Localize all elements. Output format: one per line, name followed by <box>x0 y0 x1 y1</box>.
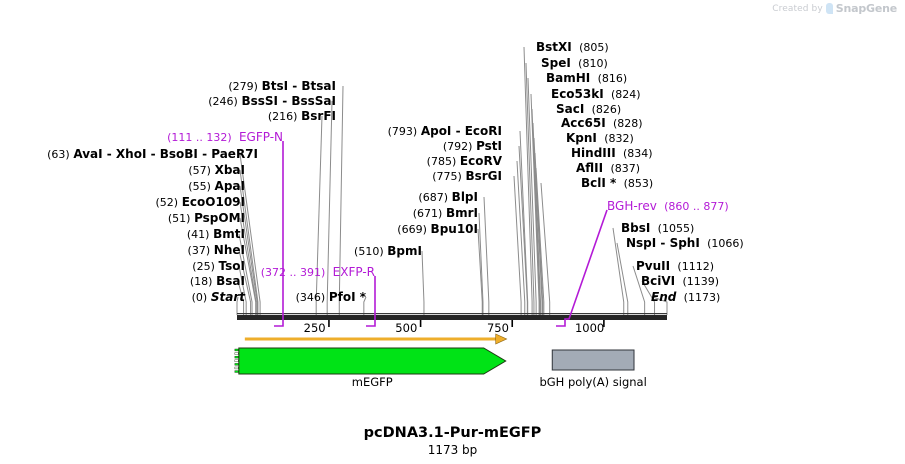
enzyme-position: (1139) <box>682 275 719 288</box>
enzyme-name: SacI <box>556 102 584 116</box>
enzyme-label-bmti[interactable]: (41) BmtI <box>187 228 245 241</box>
enzyme-label-pvuii[interactable]: PvuII (1112) <box>636 260 714 273</box>
enzyme-position: (1055) <box>658 222 695 235</box>
enzyme-name: NspI - SphI <box>626 236 700 250</box>
enzyme-label-bamhi[interactable]: BamHI (816) <box>546 72 627 85</box>
enzyme-position: (687) <box>418 191 448 204</box>
enzyme-position: (834) <box>623 147 653 160</box>
ruler-tick-label-750: 750 <box>487 321 509 335</box>
enzyme-label-eco53ki[interactable]: Eco53kI (824) <box>551 88 641 101</box>
enzyme-position: (57) <box>188 164 211 177</box>
enzyme-name: KpnI <box>566 131 597 145</box>
enzyme-leader-line <box>327 101 332 315</box>
enzyme-name: PvuII <box>636 259 670 273</box>
enzyme-position: (279) <box>228 80 258 93</box>
enzyme-name: SpeI <box>541 56 571 70</box>
enzyme-label-saci[interactable]: SacI (826) <box>556 103 621 116</box>
feature-edge-hatch <box>235 353 238 355</box>
enzyme-label-bcli[interactable]: BclI * (853) <box>581 177 653 190</box>
enzyme-label-ecoo109i[interactable]: (52) EcoO109I <box>155 196 245 209</box>
primer-label-egfp-n[interactable]: (111 .. 132) EGFP-N <box>167 131 283 144</box>
enzyme-name: XbaI <box>215 163 245 177</box>
ruler-tick-label-1000: 1000 <box>575 321 604 335</box>
enzyme-position: (816) <box>598 72 628 85</box>
enzyme-name: BlpI <box>452 190 478 204</box>
primer-name: EGFP-N <box>239 130 283 144</box>
enzyme-name: BsrGI <box>465 169 502 183</box>
enzyme-name: BssSI - BssSaI <box>241 94 336 108</box>
enzyme-label-bsrfi[interactable]: (216) BsrFI <box>268 110 336 123</box>
enzyme-name: End <box>651 290 676 304</box>
enzyme-label-psti[interactable]: (792) PstI <box>443 140 502 153</box>
enzyme-position: (63) <box>47 148 70 161</box>
enzyme-name: PfoI * <box>329 290 366 304</box>
enzyme-leader-line <box>316 116 322 315</box>
enzyme-name: Acc65I <box>561 116 606 130</box>
enzyme-name: ApaI <box>215 179 245 193</box>
enzyme-label-apai[interactable]: (55) ApaI <box>188 180 245 193</box>
enzyme-leader-line <box>514 176 521 315</box>
enzyme-name: BciVI <box>641 274 675 288</box>
enzyme-label-nhei[interactable]: (37) NheI <box>188 244 245 257</box>
enzyme-position: (1066) <box>707 237 744 250</box>
enzyme-leader-line <box>617 243 628 315</box>
enzyme-position: (775) <box>432 170 462 183</box>
enzyme-position: (828) <box>613 117 643 130</box>
enzyme-label-bsssi[interactable]: (246) BssSI - BssSaI <box>208 95 336 108</box>
enzyme-position: (51) <box>168 212 191 225</box>
enzyme-position: (0) <box>192 291 208 304</box>
enzyme-label-aflii[interactable]: AflII (837) <box>576 162 640 175</box>
enzyme-name: BbsI <box>621 221 650 235</box>
enzyme-label-bbsi[interactable]: BbsI (1055) <box>621 222 694 235</box>
enzyme-position: (216) <box>268 110 298 123</box>
ruler-bar <box>237 315 667 320</box>
enzyme-name: ApoI - EcoRI <box>421 124 502 138</box>
enzyme-name: NheI <box>214 243 245 257</box>
primer-range: (111 .. 132) <box>167 131 232 144</box>
enzyme-position: (832) <box>604 132 634 145</box>
enzyme-position: (55) <box>188 180 211 193</box>
enzyme-position: (792) <box>443 140 473 153</box>
enzyme-leader-line <box>339 86 343 315</box>
enzyme-label-pspomi[interactable]: (51) PspOMI <box>168 212 245 225</box>
enzyme-label-nspi[interactable]: NspI - SphI (1066) <box>626 237 744 250</box>
enzyme-position: (37) <box>188 244 211 257</box>
enzyme-label-bsrgi[interactable]: (775) BsrGI <box>432 170 502 183</box>
enzyme-position: (25) <box>192 260 215 273</box>
primer-bracket-bgh-rev <box>556 210 607 326</box>
feature-label-bgh-poly-a-signal: bGH poly(A) signal <box>539 375 646 389</box>
enzyme-label-xbai[interactable]: (57) XbaI <box>188 164 245 177</box>
enzyme-name: BmrI <box>446 206 478 220</box>
enzyme-position: (805) <box>579 41 609 54</box>
feature-edge-hatch <box>235 349 238 351</box>
feature-edge-hatch <box>235 360 238 362</box>
enzyme-name: Bpu10I <box>431 222 478 236</box>
primer-name: BGH-rev <box>607 199 657 213</box>
enzyme-label-hindiii[interactable]: HindIII (834) <box>571 147 653 160</box>
primer-label-exfp-r[interactable]: (372 .. 391) EXFP-R <box>261 266 375 279</box>
enzyme-name: AvaI - XhoI - BsoBI - PaeR7I <box>73 147 258 161</box>
enzyme-position: (793) <box>388 125 418 138</box>
primer-range: (372 .. 391) <box>261 266 326 279</box>
enzyme-name: BtsI - BtsaI <box>262 79 336 93</box>
feature-label-megfp: mEGFP <box>352 375 393 389</box>
enzyme-name: TsoI <box>219 259 245 273</box>
enzyme-position: (1112) <box>677 260 714 273</box>
enzyme-leader-line <box>484 197 489 315</box>
feature-edge-hatch <box>235 371 238 373</box>
enzyme-label-bcivi[interactable]: BciVI (1139) <box>641 275 719 288</box>
enzyme-position: (853) <box>624 177 654 190</box>
sequence-line <box>237 313 667 314</box>
enzyme-label-bstxi[interactable]: BstXI (805) <box>536 41 609 54</box>
enzyme-label-bmri[interactable]: (671) BmrI <box>413 207 478 220</box>
enzyme-label-tsoi[interactable]: (25) TsoI <box>192 260 245 273</box>
enzyme-position: (824) <box>611 88 641 101</box>
enzyme-label-blpi[interactable]: (687) BlpI <box>418 191 478 204</box>
enzyme-position: (669) <box>397 223 427 236</box>
enzyme-position: (510) <box>354 245 384 258</box>
enzyme-name: BamHI <box>546 71 590 85</box>
enzyme-name: BstXI <box>536 40 572 54</box>
enzyme-label-kpni[interactable]: KpnI (832) <box>566 132 634 145</box>
enzyme-position: (346) <box>296 291 326 304</box>
enzyme-position: (837) <box>610 162 640 175</box>
enzyme-name: BpmI <box>387 244 422 258</box>
ruler-tick-mark <box>420 320 422 327</box>
feature-edge-hatch <box>235 356 238 358</box>
enzyme-name: BmtI <box>213 227 245 241</box>
enzyme-position: (18) <box>190 275 213 288</box>
enzyme-label-bpu10i[interactable]: (669) Bpu10I <box>397 223 478 236</box>
enzyme-name: BclI * <box>581 176 616 190</box>
enzyme-label-btsi[interactable]: (279) BtsI - BtsaI <box>228 80 336 93</box>
enzyme-label-ecorv[interactable]: (785) EcoRV <box>427 155 502 168</box>
enzyme-leader-line <box>422 251 424 315</box>
feature-box-polya[interactable] <box>552 350 634 370</box>
enzyme-position: (41) <box>187 228 210 241</box>
enzyme-label-acc65i[interactable]: Acc65I (828) <box>561 117 643 130</box>
enzyme-name: EcoRV <box>460 154 502 168</box>
enzyme-name: HindIII <box>571 146 616 160</box>
enzyme-name: PstI <box>476 139 502 153</box>
ruler-tick-mark <box>511 320 513 327</box>
primer-label-bgh-rev[interactable]: BGH-rev (860 .. 877) <box>607 200 729 213</box>
sequence-length-label: 1173 bp <box>0 443 905 457</box>
enzyme-position: (246) <box>208 95 238 108</box>
enzyme-position: (826) <box>592 103 622 116</box>
enzyme-label-spei[interactable]: SpeI (810) <box>541 57 608 70</box>
enzyme-label-pfoi[interactable]: (346) PfoI * <box>296 291 366 304</box>
enzyme-name: BsrFI <box>301 109 336 123</box>
ruler-tick-label-500: 500 <box>395 321 417 335</box>
enzyme-name: Start <box>211 290 245 304</box>
enzyme-label-avai[interactable]: (63) AvaI - XhoI - BsoBI - PaeR7I <box>47 148 258 161</box>
primer-name: EXFP-R <box>333 265 375 279</box>
enzyme-label-bpmi[interactable]: (510) BpmI <box>354 245 422 258</box>
plasmid-map-canvas: Created by SnapGene (63) AvaI - XhoI - B… <box>0 0 905 464</box>
enzyme-label-start[interactable]: (0) Start <box>192 291 245 304</box>
enzyme-name: PspOMI <box>194 211 245 225</box>
feature-edge-hatch <box>235 367 238 369</box>
primer-range: (860 .. 877) <box>664 200 729 213</box>
enzyme-label-bsai[interactable]: (18) BsaI <box>190 275 245 288</box>
enzyme-position: (810) <box>578 57 608 70</box>
page-title: pcDNA3.1-Pur-mEGFP <box>0 425 905 441</box>
ruler-tick-label-250: 250 <box>304 321 326 335</box>
enzyme-leader-line <box>526 63 534 315</box>
enzyme-label-end[interactable]: End (1173) <box>651 291 720 304</box>
feature-arrow-megfp[interactable] <box>239 348 506 374</box>
enzyme-name: AflII <box>576 161 603 175</box>
primer-bracket-egfp-n <box>274 141 283 326</box>
enzyme-position: (1173) <box>684 291 721 304</box>
enzyme-position: (52) <box>155 196 178 209</box>
enzyme-name: BsaI <box>216 274 245 288</box>
ruler-tick-mark <box>328 320 330 327</box>
enzyme-name: EcoO109I <box>182 195 245 209</box>
feature-edge-hatch <box>235 363 238 365</box>
enzyme-label-apoi[interactable]: (793) ApoI - EcoRI <box>388 125 502 138</box>
orf-arrow-head <box>496 334 507 344</box>
enzyme-position: (785) <box>427 155 457 168</box>
enzyme-position: (671) <box>413 207 443 220</box>
enzyme-name: Eco53kI <box>551 87 604 101</box>
